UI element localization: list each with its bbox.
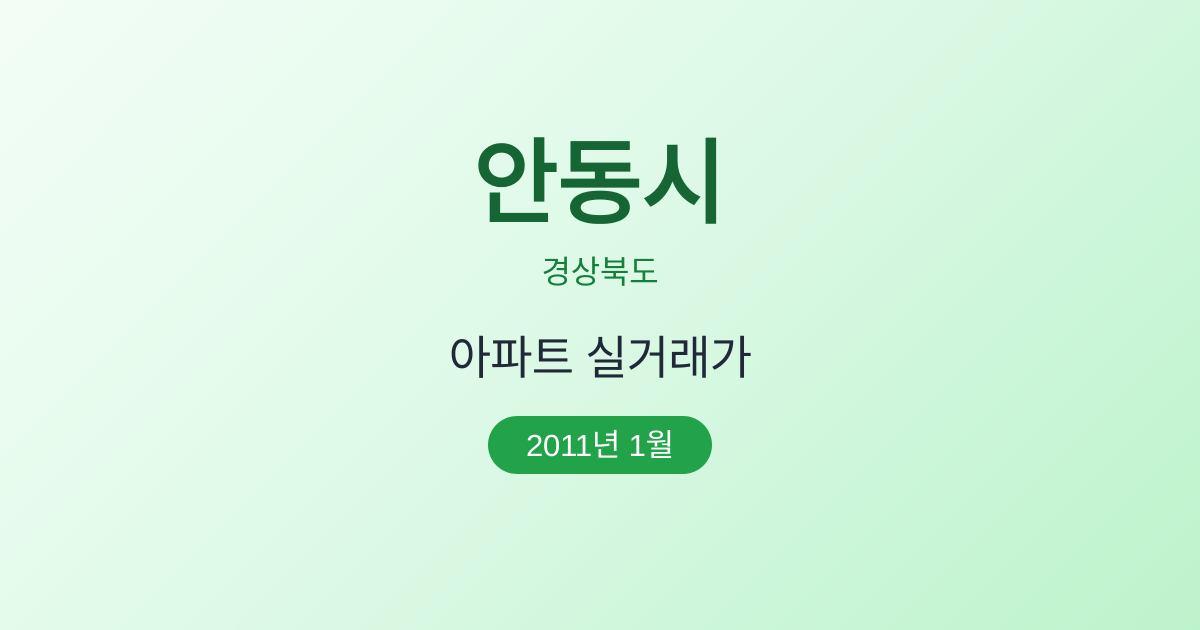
cover-content: 안동시 경상북도 아파트 실거래가 2011년 1월 <box>0 138 1200 474</box>
region-province-label: 경상북도 <box>542 256 659 288</box>
report-cover-card: 안동시 경상북도 아파트 실거래가 2011년 1월 <box>0 0 1200 630</box>
page-title: 안동시 <box>474 138 726 230</box>
dataset-heading: 아파트 실거래가 <box>449 335 752 381</box>
period-badge: 2011년 1월 <box>488 416 712 474</box>
